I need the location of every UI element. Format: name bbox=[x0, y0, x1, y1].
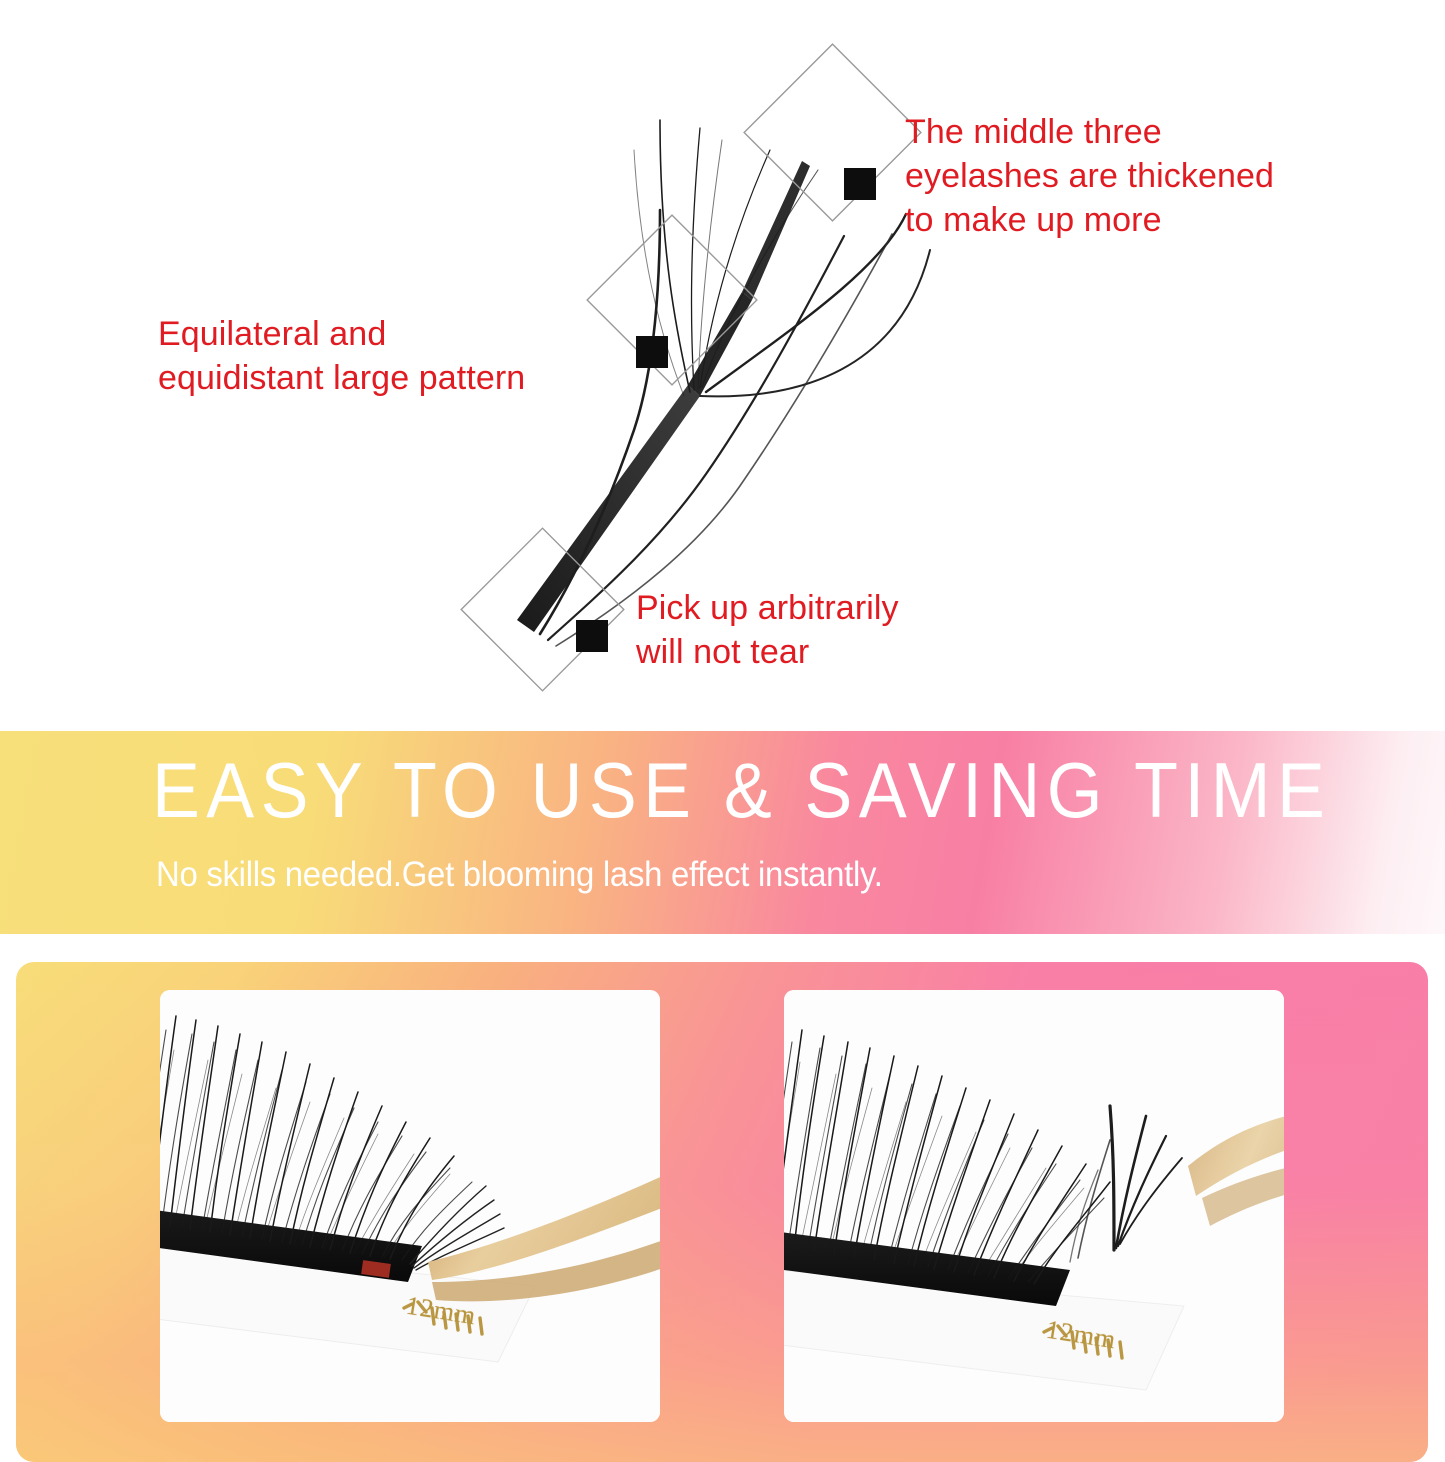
photo-lash-tray-lifted-fan bbox=[784, 990, 1284, 1422]
banner-title: EASY TO USE & SAVING TIME bbox=[152, 745, 1331, 836]
callout-text-pick-up: Pick up arbitrarily will not tear bbox=[636, 586, 1036, 674]
lash-diagram-section: The middle three eyelashes are thickened… bbox=[0, 0, 1445, 731]
photo-lash-tray-tweezers bbox=[160, 990, 660, 1422]
product-photo-panel: 12mm bbox=[16, 962, 1428, 1462]
black-square-marker-top bbox=[844, 168, 876, 200]
banner-subtitle: No skills needed.Get blooming lash effec… bbox=[156, 855, 883, 895]
product-photo-card-left: 12mm bbox=[160, 990, 660, 1422]
black-square-marker-bottom bbox=[576, 620, 608, 652]
diamond-marker-top bbox=[744, 44, 921, 221]
product-photo-card-right: 12mm bbox=[784, 990, 1284, 1422]
lash-branch-right bbox=[548, 236, 844, 640]
callout-text-middle-three: The middle three eyelashes are thickened… bbox=[905, 110, 1365, 243]
black-square-marker-middle bbox=[636, 336, 668, 368]
lash-stem-tip bbox=[742, 161, 810, 300]
lash-branch-right-2 bbox=[556, 234, 892, 646]
callout-text-equilateral: Equilateral and equidistant large patter… bbox=[158, 312, 628, 400]
marketing-banner: EASY TO USE & SAVING TIME No skills need… bbox=[0, 731, 1445, 934]
